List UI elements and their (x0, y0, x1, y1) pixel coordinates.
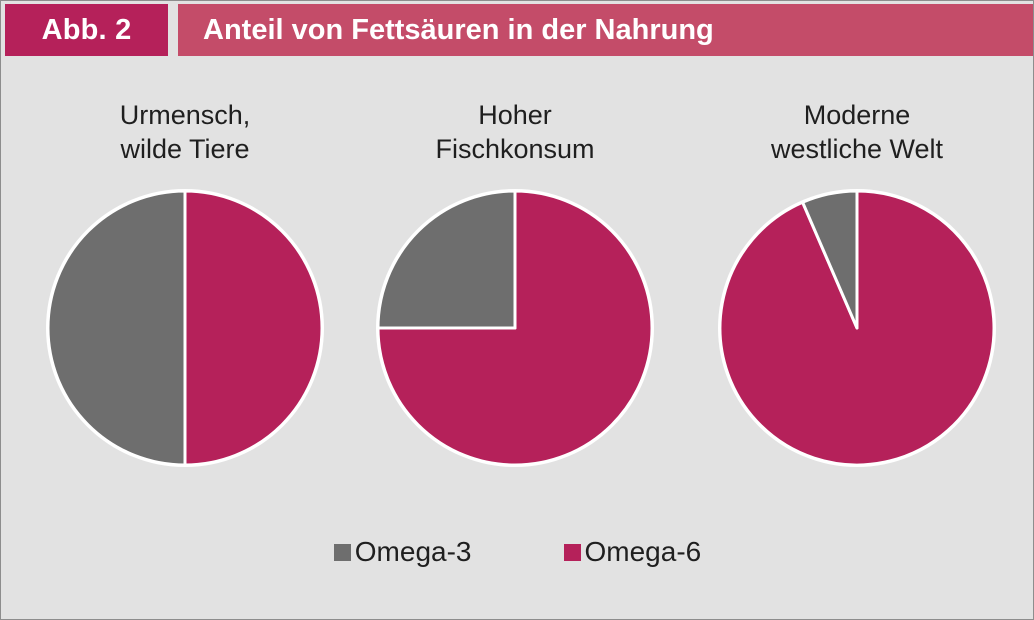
pie-slices-1 (48, 191, 322, 465)
pie-slices-3 (720, 191, 994, 465)
pie-group-3: Moderne westliche Welt (692, 60, 1022, 480)
pie-caption-2: Hoher Fischkonsum (350, 60, 680, 167)
figure-header: Abb. 2 Anteil von Fettsäuren in der Nahr… (1, 1, 1034, 60)
legend-item-omega3: Omega-3 (334, 538, 472, 566)
figure-number-label: Abb. 2 (42, 16, 132, 45)
pie-group-1: Urmensch, wilde Tiere (20, 60, 350, 480)
pie-svg-2 (370, 183, 660, 473)
chart-legend: Omega-3 Omega-6 (2, 538, 1033, 566)
pie-svg-1 (40, 183, 330, 473)
figure-container: Abb. 2 Anteil von Fettsäuren in der Nahr… (0, 0, 1034, 620)
legend-label-omega6: Omega-6 (585, 538, 702, 566)
legend-label-omega3: Omega-3 (355, 538, 472, 566)
figure-title: Anteil von Fettsäuren in der Nahrung (178, 16, 714, 45)
figure-number-badge: Abb. 2 (5, 4, 168, 56)
legend-swatch-omega6 (564, 544, 581, 561)
legend-item-omega6: Omega-6 (564, 538, 702, 566)
pie-caption-1: Urmensch, wilde Tiere (20, 60, 350, 167)
chart-plot-area: Urmensch, wilde Tiere Hoher Fischkonsum … (2, 60, 1033, 618)
pie-group-2: Hoher Fischkonsum (350, 60, 680, 480)
pie-chart-3 (712, 183, 1002, 473)
pie-caption-3: Moderne westliche Welt (692, 60, 1022, 167)
legend-swatch-omega3 (334, 544, 351, 561)
pie-chart-2 (370, 183, 660, 473)
figure-title-band: Anteil von Fettsäuren in der Nahrung (178, 4, 1034, 56)
pie-svg-3 (712, 183, 1002, 473)
pie-chart-1 (40, 183, 330, 473)
pie-slices-2 (378, 191, 652, 465)
